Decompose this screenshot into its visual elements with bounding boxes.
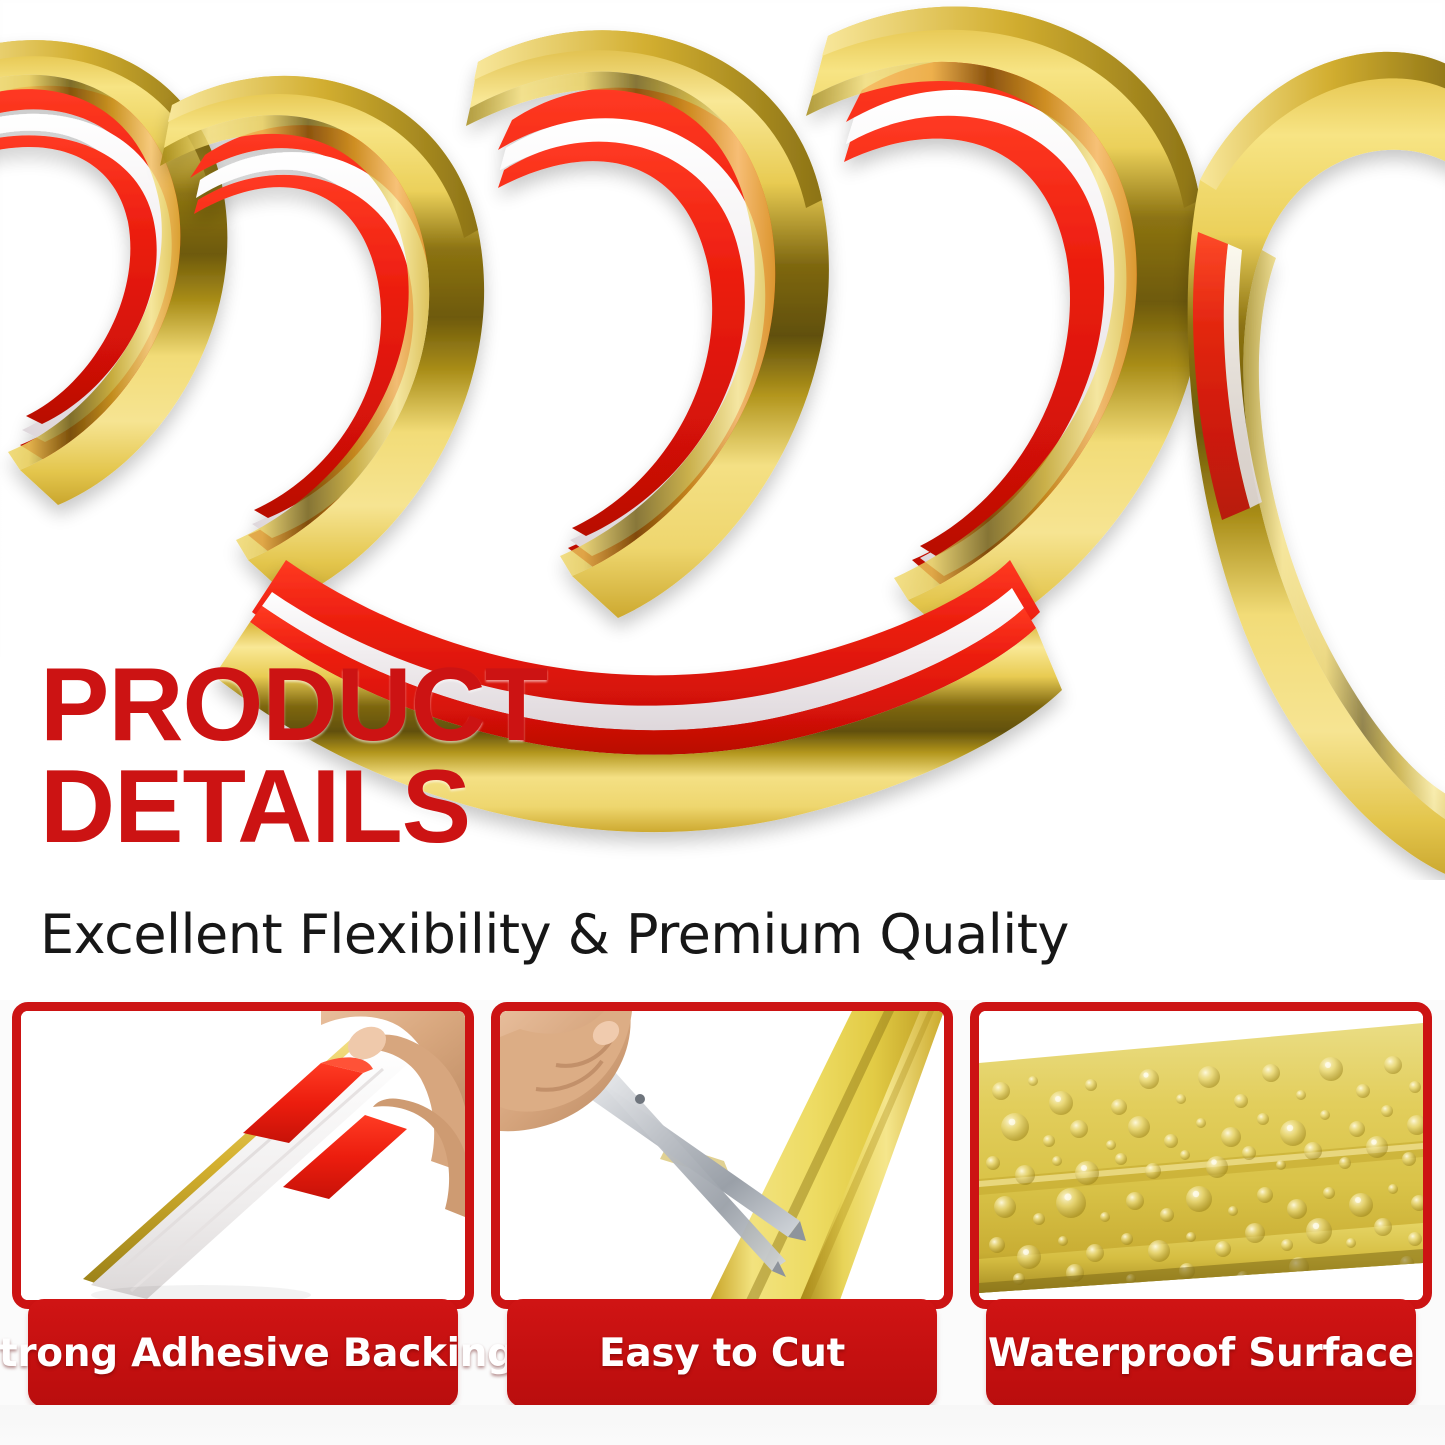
feature-panel-cut[interactable]: Easy to Cut — [491, 1002, 953, 1445]
tape-tail-right — [1188, 52, 1445, 880]
feature-caption-label: Strong Adhesive Backing — [0, 1331, 515, 1376]
feature-image-waterproof — [979, 1011, 1423, 1300]
feature-image-adhesive — [21, 1011, 465, 1300]
feature-caption-label: Easy to Cut — [599, 1331, 845, 1376]
feature-caption-waterproof: Waterproof Surface — [986, 1299, 1416, 1407]
feature-caption-adhesive: Strong Adhesive Backing — [28, 1299, 458, 1407]
feature-panel-waterproof[interactable]: Waterproof Surface — [970, 1002, 1432, 1445]
page-subtitle: Excellent Flexibility & Premium Quality — [40, 905, 1069, 964]
feature-image-frame — [970, 1002, 1432, 1309]
bottom-edge — [0, 1405, 1445, 1445]
title-line-1: PRODUCT — [40, 655, 820, 757]
feature-caption-cut: Easy to Cut — [507, 1299, 937, 1407]
page-title: PRODUCT DETAILS — [40, 655, 820, 859]
feature-panels: Strong Adhesive Backing — [0, 1002, 1445, 1445]
water-drops-icon — [979, 1011, 1423, 1300]
scissors-icon — [500, 1011, 944, 1300]
feature-panel-adhesive[interactable]: Strong Adhesive Backing — [12, 1002, 474, 1445]
feature-image-frame — [491, 1002, 953, 1309]
tape-coil-4 — [806, 7, 1206, 648]
feature-image-frame — [12, 1002, 474, 1309]
feature-caption-label: Waterproof Surface — [988, 1331, 1414, 1376]
tape-coil-3 — [466, 30, 829, 618]
infographic-canvas: PRODUCT DETAILS Excellent Flexibility & … — [0, 0, 1445, 1445]
title-line-2: DETAILS — [40, 757, 820, 859]
hand-peel-icon — [21, 1011, 465, 1300]
feature-image-cut — [500, 1011, 944, 1300]
